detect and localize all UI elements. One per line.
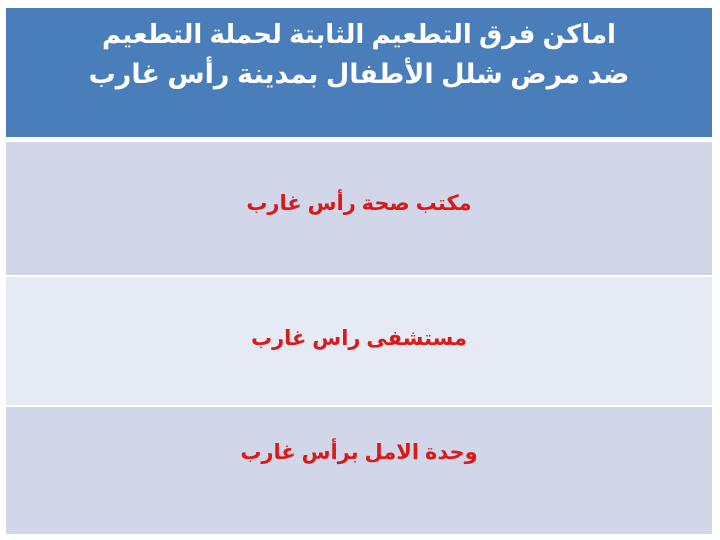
slide-canvas: اماكن فرق التطعيم الثابتة لحملة التطعيم … bbox=[0, 0, 720, 540]
location-name-2: مستشفى راس غارب bbox=[6, 325, 712, 353]
list-item: وحدة الامل برأس غارب bbox=[6, 407, 712, 534]
list-item: مكتب صحة رأس غارب bbox=[6, 142, 712, 275]
location-name-1: مكتب صحة رأس غارب bbox=[6, 190, 712, 218]
slide-title-line-1: اماكن فرق التطعيم الثابتة لحملة التطعيم bbox=[6, 14, 712, 54]
location-name-3: وحدة الامل برأس غارب bbox=[6, 439, 712, 467]
list-item: مستشفى راس غارب bbox=[6, 277, 712, 405]
slide-title-banner: اماكن فرق التطعيم الثابتة لحملة التطعيم … bbox=[6, 8, 712, 137]
location-list: مكتب صحة رأس غارب مستشفى راس غارب وحدة ا… bbox=[6, 142, 712, 534]
slide-title-line-2: ضد مرض شلل الأطفال بمدينة رأس غارب bbox=[6, 54, 712, 94]
